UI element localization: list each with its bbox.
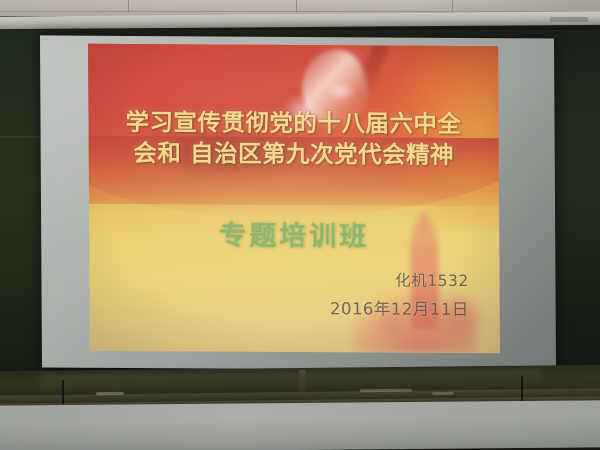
screen-roller-end-cap xyxy=(550,17,588,22)
lower-wall-tint xyxy=(0,400,600,450)
light-spark-icon xyxy=(322,79,359,104)
blackboard-right-panel xyxy=(548,32,600,380)
blackboard-left-panel xyxy=(0,30,46,382)
projected-slide: 学习宣传贯彻党的十八届六中全 会和 自治区第九次党代会精神 专题培训班 化机15… xyxy=(88,44,500,354)
blackboard-seam xyxy=(0,136,42,138)
hanging-cord xyxy=(62,380,64,404)
projection-screen: 学习宣传贯彻党的十八届六中全 会和 自治区第九次党代会精神 专题培训班 化机15… xyxy=(40,35,556,370)
hanging-cord xyxy=(521,376,523,404)
slide-title: 学习宣传贯彻党的十八届六中全 会和 自治区第九次党代会精神 xyxy=(88,107,498,172)
chalk-piece xyxy=(96,392,124,395)
classroom-photo: 学习宣传贯彻党的十八届六中全 会和 自治区第九次党代会精神 专题培训班 化机15… xyxy=(0,0,600,450)
slide-date: 2016年12月11日 xyxy=(330,295,469,320)
chalk-piece xyxy=(432,392,454,395)
slide-subtitle: 专题培训班 xyxy=(89,213,499,255)
slide-class-label: 化机1532 xyxy=(395,268,469,290)
chalk-piece xyxy=(360,389,412,393)
